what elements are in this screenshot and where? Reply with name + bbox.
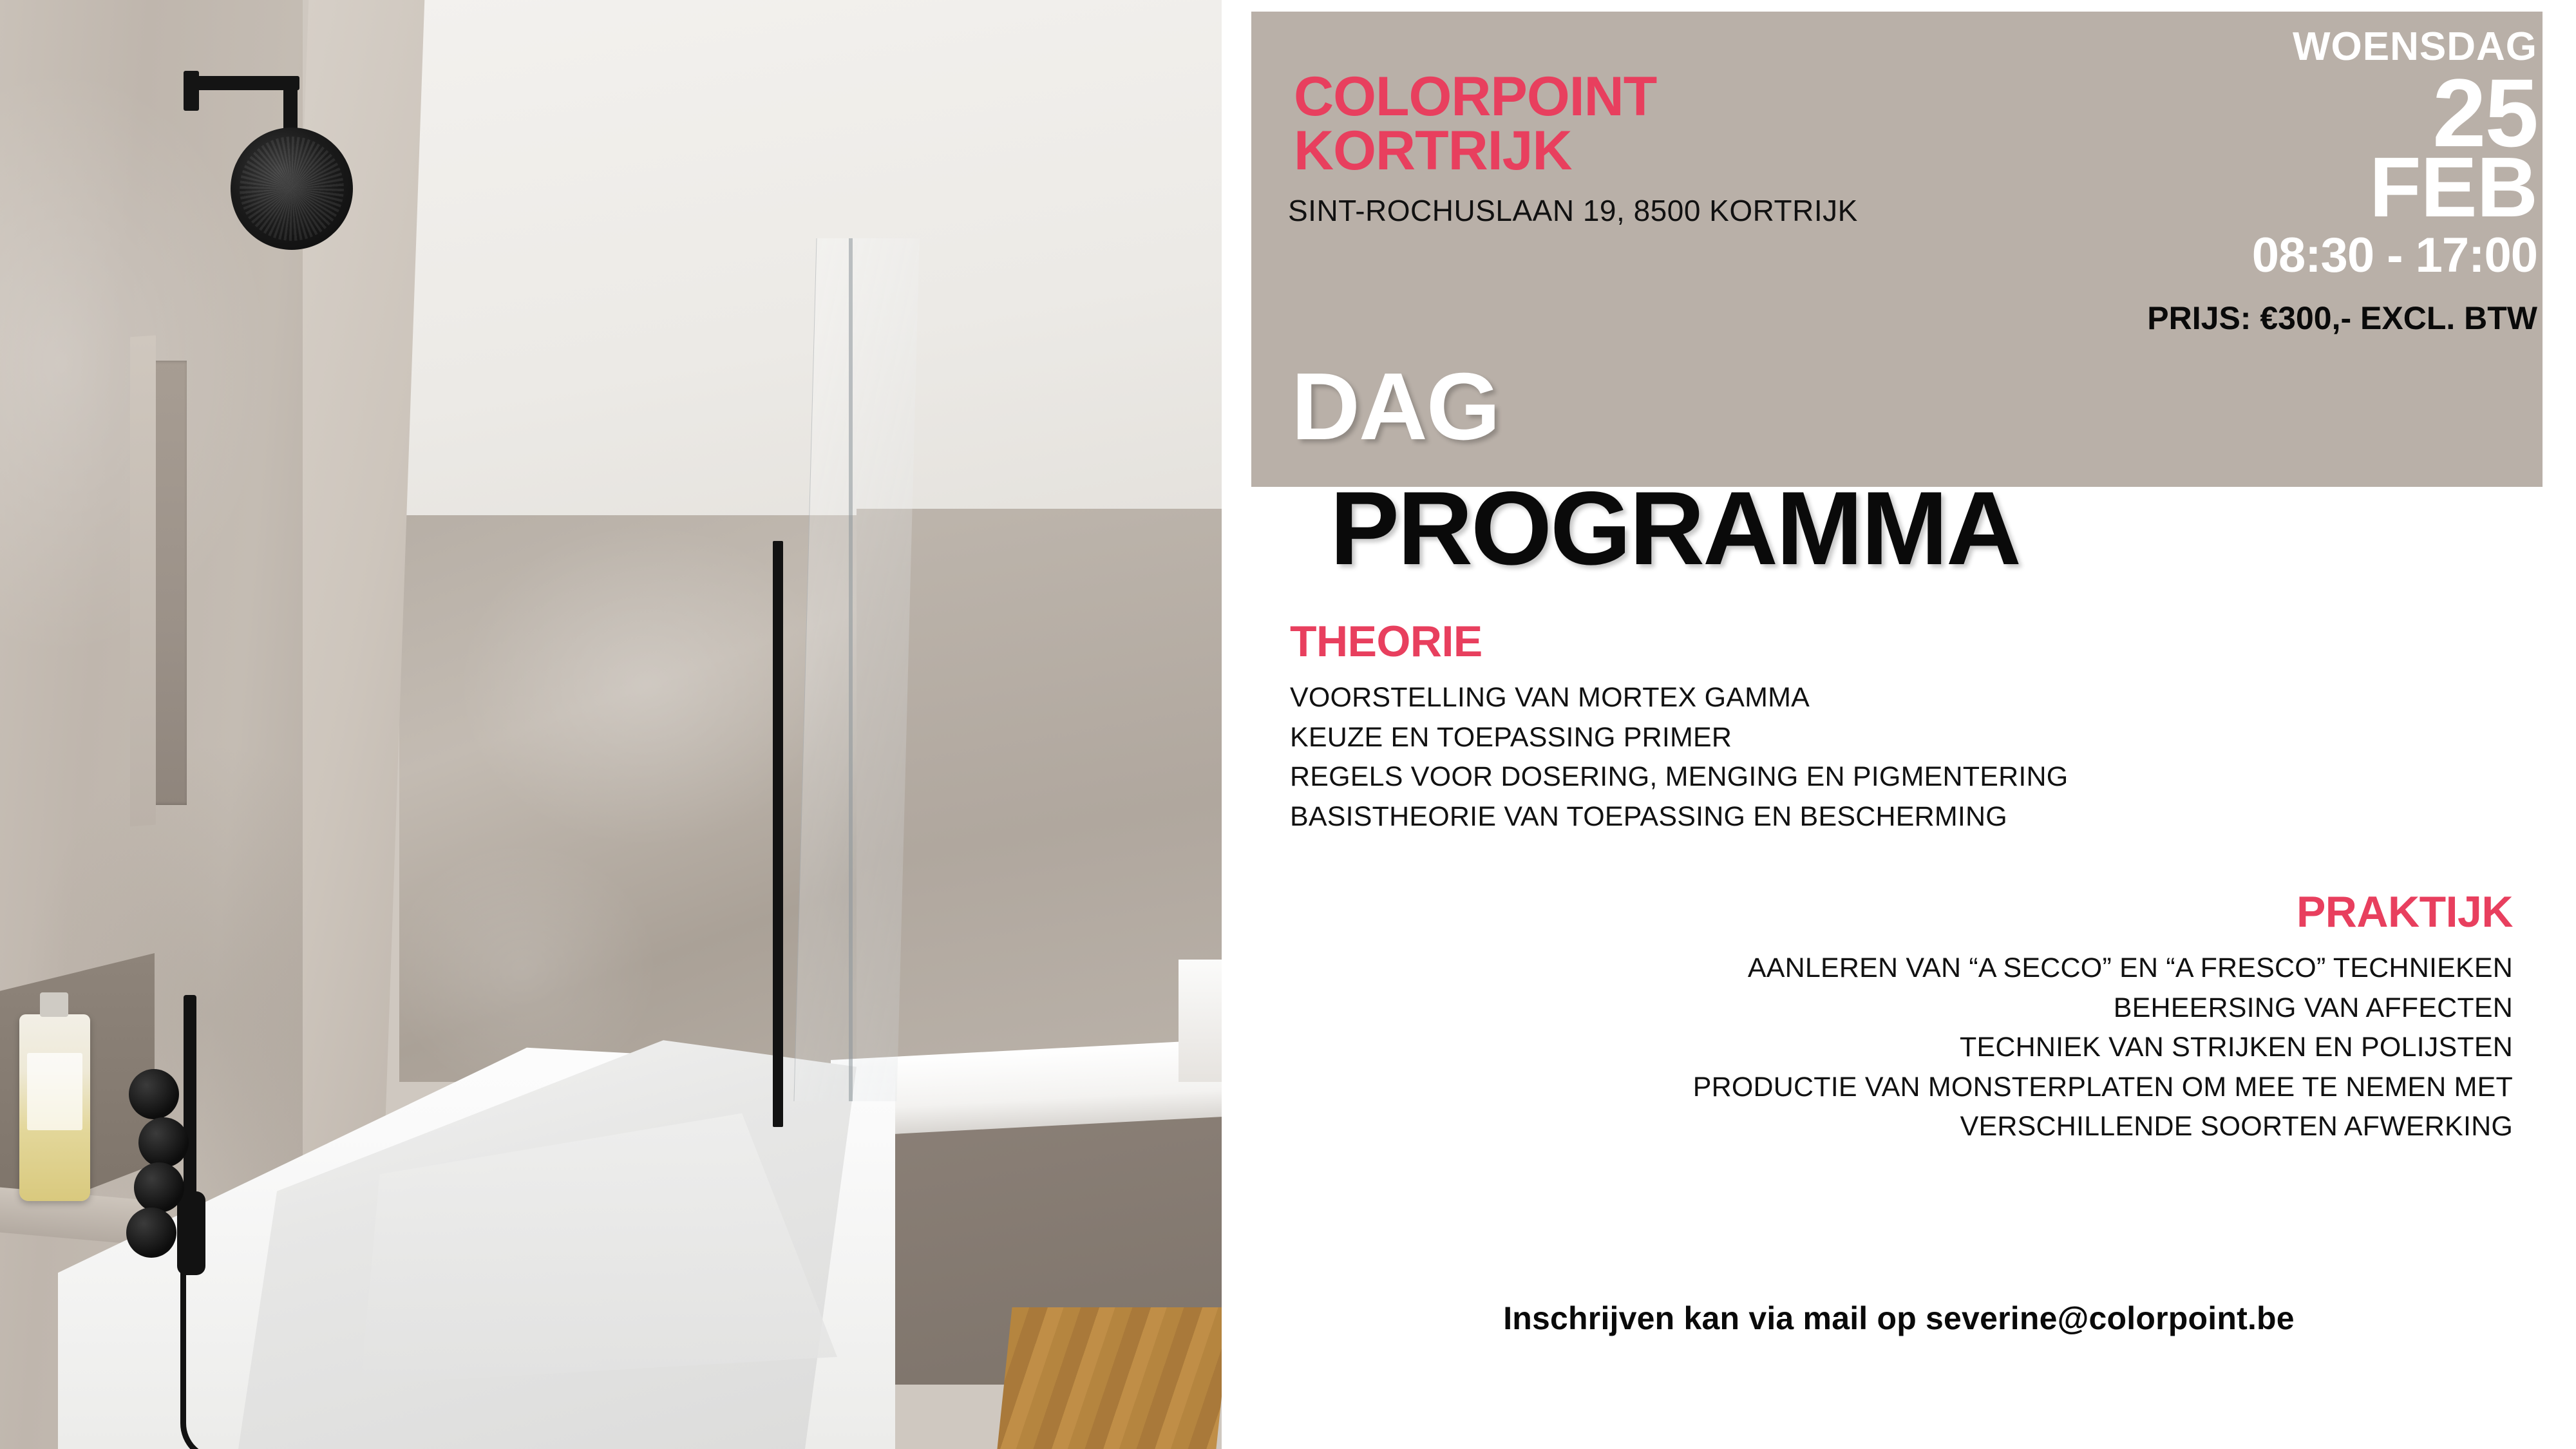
soap-bottle [19, 1014, 90, 1201]
section-list-theorie: VOORSTELLING VAN MORTEX GAMMA KEUZE EN T… [1290, 681, 2068, 833]
list-item: PRODUCTIE VAN MONSTERPLATEN OM MEE TE NE… [1693, 1071, 2513, 1104]
date-block: WOENSDAG 25 FEB 08:30 - 17:00 PRIJS: €30… [2147, 27, 2537, 334]
shower-arm-drop [283, 82, 298, 134]
content-panel: COLORPOINT KORTRIJK SINT-ROCHUSLAAN 19, … [1222, 0, 2576, 1449]
list-item: VERSCHILLENDE SOORTEN AFWERKING [1693, 1110, 2513, 1144]
list-item: REGELS VOOR DOSERING, MENGING EN PIGMENT… [1290, 761, 2068, 794]
price-label: PRIJS: €300,- EXCL. BTW [2147, 302, 2537, 334]
list-item: BASISTHEORIE VAN TOEPASSING EN BESCHERMI… [1290, 800, 2068, 834]
wood-floor [997, 1307, 1222, 1449]
glass-edge [849, 238, 853, 1101]
rain-shower-head-icon [231, 128, 353, 250]
mixer-handle-1 [129, 1069, 179, 1119]
section-heading-theorie: THEORIE [1290, 620, 2068, 663]
title-line-1: DAG [1291, 359, 1499, 455]
list-item: TECHNIEK VAN STRIJKEN EN POLIJSTEN [1693, 1031, 2513, 1065]
list-item: KEUZE EN TOEPASSING PRIMER [1290, 721, 2068, 755]
section-praktijk: PRAKTIJK AANLEREN VAN “A SECCO” EN “A FR… [1693, 890, 2513, 1150]
month-label: FEB [2147, 153, 2537, 222]
ceiling-surface [386, 0, 1222, 535]
section-heading-praktijk: PRAKTIJK [1693, 890, 2513, 934]
title-line-2: PROGRAMMA [1330, 477, 2020, 581]
mixer-handle-2 [138, 1117, 189, 1168]
list-item: AANLEREN VAN “A SECCO” EN “A FRESCO” TEC… [1693, 952, 2513, 985]
venue-address: SINT-ROCHUSLAAN 19, 8500 KORTRIJK [1288, 193, 1858, 228]
bathroom-photo [0, 0, 1222, 1449]
poster-root: COLORPOINT KORTRIJK SINT-ROCHUSLAAN 19, … [0, 0, 2576, 1449]
hours-label: 08:30 - 17:00 [2147, 231, 2537, 280]
mixer-handle-4 [126, 1207, 176, 1258]
signup-text: Inschrijven kan via mail op severine@col… [1222, 1300, 2576, 1337]
shower-hose [180, 1262, 220, 1449]
brand-title: COLORPOINT KORTRIJK [1294, 70, 1656, 178]
section-theorie: THEORIE VOORSTELLING VAN MORTEX GAMMA KE… [1290, 620, 2068, 840]
white-ledge-side [1179, 960, 1222, 1082]
list-item: VOORSTELLING VAN MORTEX GAMMA [1290, 681, 2068, 715]
tall-wall-niche [147, 361, 187, 805]
black-profile-bar [773, 541, 783, 1127]
section-list-praktijk: AANLEREN VAN “A SECCO” EN “A FRESCO” TEC… [1693, 952, 2513, 1144]
right-wall-surface [857, 509, 1222, 1088]
shower-arm [184, 76, 299, 90]
hand-shower-wand [184, 995, 196, 1207]
list-item: BEHEERSING VAN AFFECTEN [1693, 992, 2513, 1025]
mixer-handle-3 [134, 1162, 184, 1213]
